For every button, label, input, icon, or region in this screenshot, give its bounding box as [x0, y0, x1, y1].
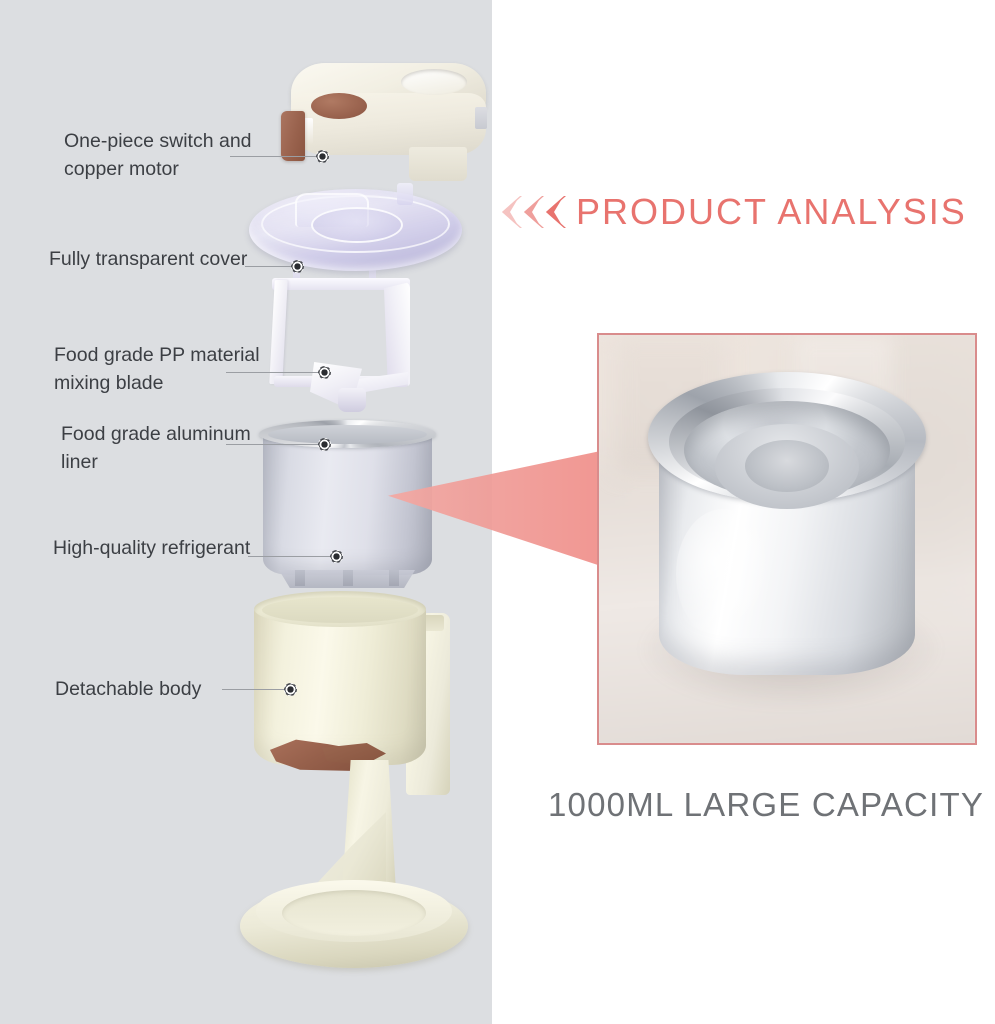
body-shell	[254, 607, 426, 765]
cover-top-stub	[397, 183, 413, 205]
pedestal-stand-part	[236, 760, 472, 980]
blade-hub	[338, 388, 366, 412]
callout-dot-icon-food-grade-aluminum-liner	[318, 438, 331, 451]
aluminum-liner-photo	[597, 333, 977, 745]
callout-label-food-grade-aluminum-liner: Food grade aluminum liner	[61, 420, 251, 477]
one-piece-switch	[281, 111, 305, 161]
callout-label-food-grade-pp-material-mixing-blade: Food grade PP material mixing blade	[54, 341, 260, 398]
cover-inner-ring	[311, 207, 403, 243]
triple-chevron-left-icon	[500, 195, 566, 229]
copper-motor-button	[311, 93, 367, 119]
callout-label-high-quality-refrigerant: High-quality refrigerant	[53, 534, 250, 562]
liner-notch-2	[343, 570, 353, 586]
callout-label-one-piece-switch-and-copper-motor: One-piece switch and copper motor	[64, 127, 252, 184]
aluminum-liner-part	[259, 420, 436, 588]
liner-body	[263, 433, 432, 575]
blade-arm-left	[269, 280, 287, 384]
product-analysis-header: PRODUCT ANALYSIS	[500, 186, 995, 238]
callout-dot-icon-high-quality-refrigerant	[330, 550, 343, 563]
liner-notch-3	[389, 570, 399, 586]
callout-dot-icon-food-grade-pp-material-mixing-blade	[318, 366, 331, 379]
motor-side-tab	[475, 107, 487, 129]
callout-leader-food-grade-aluminum-liner	[226, 444, 322, 445]
stand-base-well	[282, 890, 426, 936]
callout-dot-icon-one-piece-switch-and-copper-motor	[316, 150, 329, 163]
product-analysis-title: PRODUCT ANALYSIS	[576, 194, 967, 230]
capacity-caption: 1000ML LARGE CAPACITY	[548, 784, 995, 828]
motor-top-recess	[401, 69, 467, 95]
callout-leader-detachable-body	[222, 689, 288, 690]
aluminum-liner-bowl	[648, 372, 926, 698]
callout-leader-one-piece-switch-and-copper-motor	[230, 156, 320, 157]
mixing-blade-part	[266, 280, 422, 410]
callout-leader-food-grade-pp-material-mixing-blade	[226, 372, 322, 373]
callout-label-fully-transparent-cover: Fully transparent cover	[49, 245, 247, 273]
liner-notch-1	[295, 570, 305, 586]
body-mouth-inner	[262, 597, 418, 623]
bowl-highlight	[676, 509, 771, 640]
bowl-cavity-deep	[745, 440, 828, 492]
blade-arm-right	[384, 282, 410, 386]
motor-drive-shaft	[409, 147, 467, 181]
callout-label-detachable-body: Detachable body	[55, 675, 201, 703]
callout-leader-high-quality-refrigerant	[248, 556, 334, 557]
liner-rim-inner	[268, 425, 427, 444]
callout-dot-icon-fully-transparent-cover	[291, 260, 304, 273]
callout-leader-fully-transparent-cover	[245, 266, 295, 267]
callout-dot-icon-detachable-body	[284, 683, 297, 696]
infographic-canvas: One-piece switch and copper motorFully t…	[0, 0, 995, 1024]
